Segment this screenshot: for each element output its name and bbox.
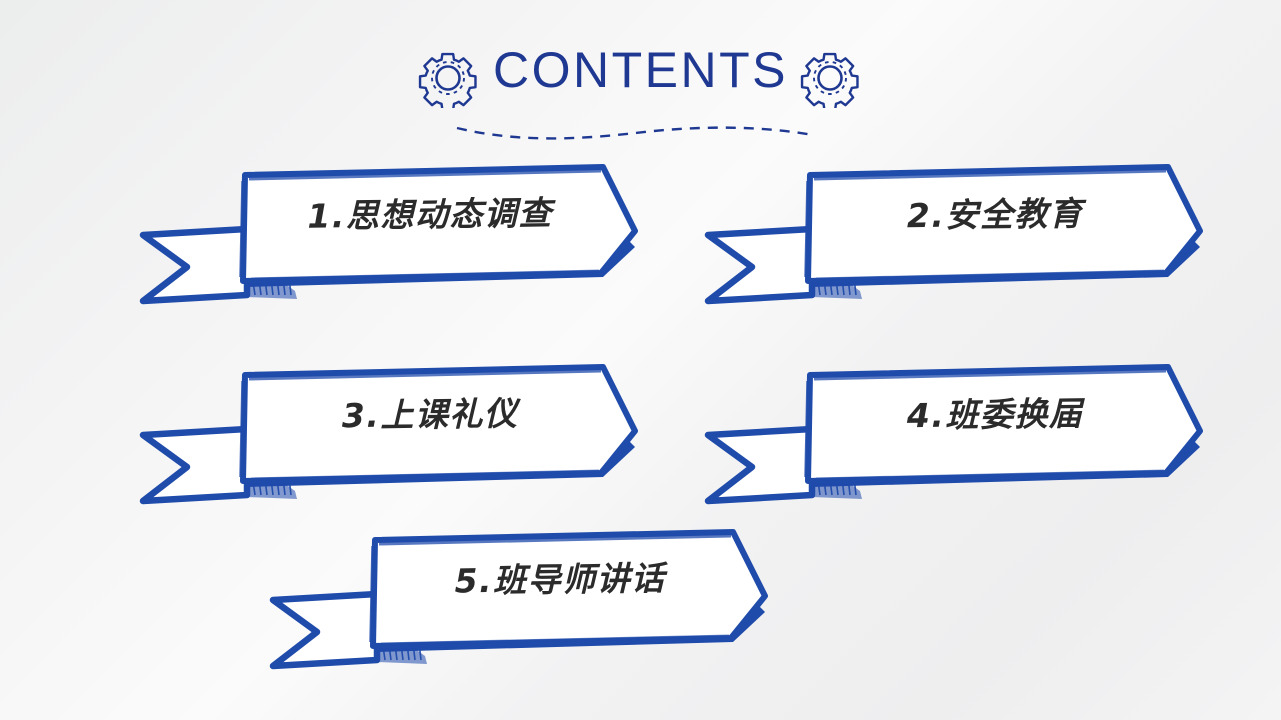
content-item-label: 4.班委换届 <box>810 378 1181 445</box>
content-item-4[interactable]: 4.班委换届 <box>700 355 1205 515</box>
content-item-label: 1.思想动态调查 <box>245 178 616 245</box>
content-item-5[interactable]: 5.班导师讲话 <box>265 520 770 680</box>
content-item-1[interactable]: 1.思想动态调查 <box>135 155 640 315</box>
contents-slide: CONTENTS <box>0 0 1281 720</box>
gear-icon <box>418 48 478 108</box>
content-item-label: 3.上课礼仪 <box>245 378 616 445</box>
page-title: CONTENTS <box>0 45 1281 95</box>
content-item-label: 5.班导师讲话 <box>375 543 746 610</box>
content-item-3[interactable]: 3.上课礼仪 <box>135 355 640 515</box>
gear-icon <box>800 48 860 108</box>
content-item-2[interactable]: 2.安全教育 <box>700 155 1205 315</box>
content-item-label: 2.安全教育 <box>810 178 1181 245</box>
dashed-wave-divider <box>455 116 815 142</box>
slide-header: CONTENTS <box>0 34 1281 126</box>
